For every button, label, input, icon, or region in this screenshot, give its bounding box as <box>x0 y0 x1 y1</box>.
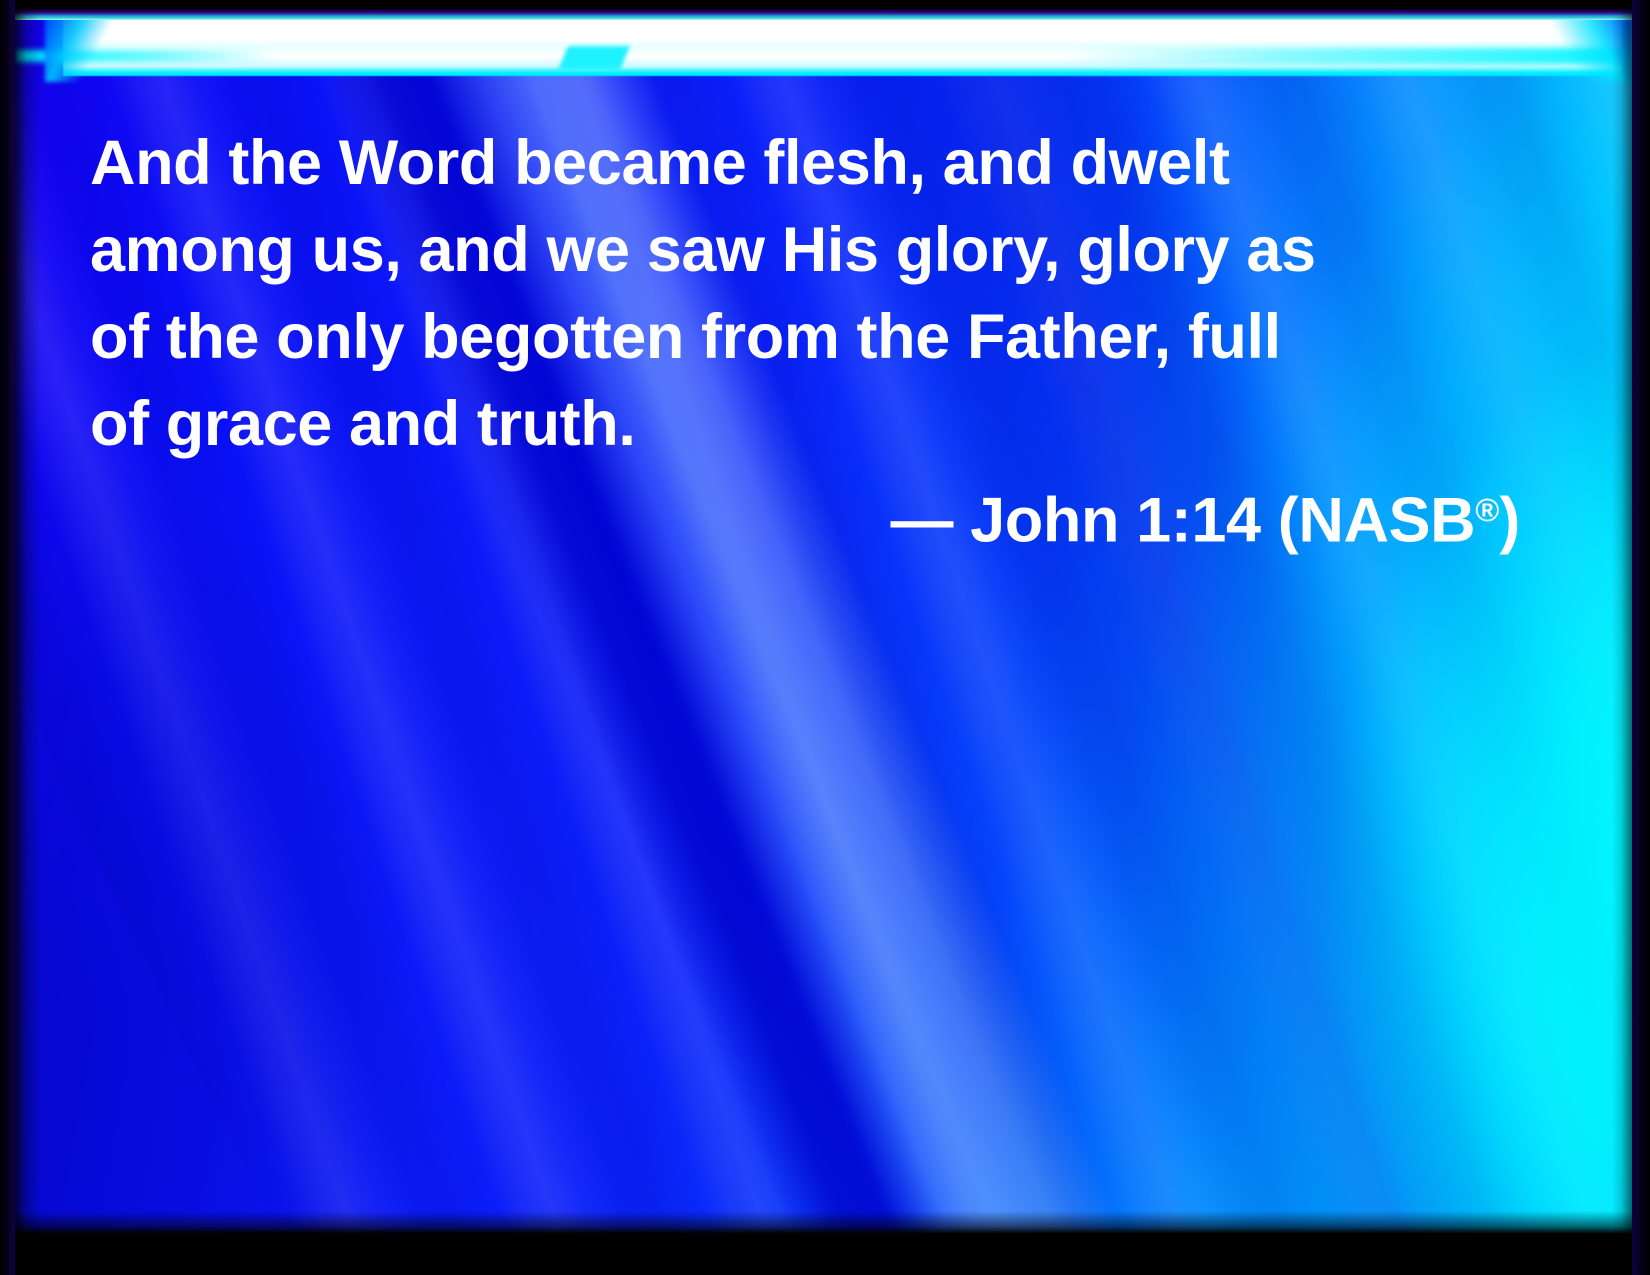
verse-line-1: And the Word became flesh, and dwelt <box>90 120 1520 207</box>
attribution-translation-close: ) <box>1499 485 1520 555</box>
registered-trademark-icon: ® <box>1475 491 1499 528</box>
canvas-left-fade <box>15 8 41 1233</box>
verse-line-4: of grace and truth. <box>90 381 1520 468</box>
frame-right <box>1632 0 1650 1275</box>
top-bar-notch <box>558 46 630 70</box>
verse-line-2: among us, and we saw His glory, glory as <box>90 207 1520 294</box>
top-highlight-bar <box>15 8 1632 82</box>
frame-bottom <box>0 1233 1650 1275</box>
attribution-book: John <box>970 485 1119 555</box>
attribution-dash: — <box>890 485 953 555</box>
verse-attribution: — John 1:14 (NASB®) <box>90 466 1520 564</box>
verse-text: And the Word became flesh, and dwelt amo… <box>90 120 1520 468</box>
canvas-right-fade <box>1612 8 1632 1233</box>
attribution-reference: 1:14 <box>1136 485 1261 555</box>
slide-canvas: And the Word became flesh, and dwelt amo… <box>15 8 1632 1233</box>
frame-left <box>0 0 15 1275</box>
canvas-bottom-fade <box>15 1211 1632 1233</box>
top-bar-rule <box>15 8 1632 20</box>
attribution-translation-open: (NASB <box>1278 485 1476 555</box>
verse-line-3: of the only begotten from the Father, fu… <box>90 294 1520 381</box>
verse-slide: And the Word became flesh, and dwelt amo… <box>0 0 1650 1275</box>
